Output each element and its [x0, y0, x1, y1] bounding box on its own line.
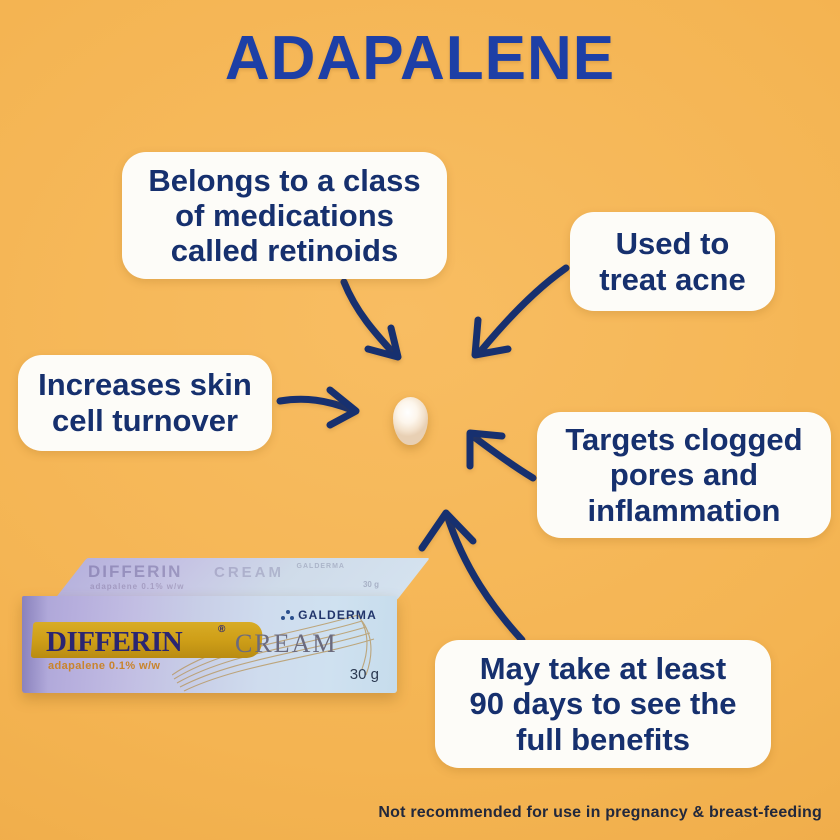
carton-form-label: CREAM	[235, 629, 337, 659]
carton-top-form: CREAM	[214, 564, 284, 581]
carton-top-brand: DIFFERIN	[88, 562, 182, 582]
fact-text-turnover: Increases skin cell turnover	[28, 367, 262, 439]
carton-net-weight: 30 g	[350, 666, 379, 683]
carton-strength-label: adapalene 0.1% w/w	[48, 660, 160, 672]
fact-text-pores: Targets clogged pores and inflammation	[545, 422, 823, 528]
carton-top-face: DIFFERIN CREAM adapalene 0.1% w/w GALDER…	[54, 558, 430, 600]
carton-top-weight: 30 g	[363, 580, 379, 589]
carton-top-manufacturer: GALDERMA	[297, 563, 345, 570]
carton-front-face: DIFFERIN ® CREAM adapalene 0.1% w/w GALD…	[22, 596, 397, 693]
carton-brand-name: DIFFERIN	[46, 626, 182, 659]
product-carton-differin: DIFFERIN CREAM adapalene 0.1% w/w GALDER…	[22, 558, 397, 693]
fact-card-benefits: May take at least 90 days to see the ful…	[435, 640, 771, 768]
infographic-canvas: ADAPALENE Belongs to a class of me	[0, 0, 840, 840]
fact-card-turnover: Increases skin cell turnover	[18, 355, 272, 451]
carton-trademark-symbol: ®	[218, 624, 225, 635]
footer-warning-note: Not recommended for use in pregnancy & b…	[378, 804, 822, 822]
carton-top-face-content: DIFFERIN CREAM adapalene 0.1% w/w GALDER…	[54, 558, 397, 600]
fact-card-pores: Targets clogged pores and inflammation	[537, 412, 831, 538]
galderma-wordmark: GALDERMA	[298, 608, 377, 622]
page-title: ADAPALENE	[0, 26, 840, 91]
galderma-logo: GALDERMA	[281, 608, 377, 622]
fact-text-acne: Used to treat acne	[578, 226, 767, 298]
fact-text-retinoids: Belongs to a class of medications called…	[132, 163, 437, 269]
galderma-dots-icon	[281, 610, 294, 621]
fact-text-benefits: May take at least 90 days to see the ful…	[443, 651, 763, 757]
carton-top-strength: adapalene 0.1% w/w	[90, 582, 184, 591]
fact-card-acne: Used to treat acne	[570, 212, 775, 311]
fact-card-retinoids: Belongs to a class of medications called…	[122, 152, 447, 279]
